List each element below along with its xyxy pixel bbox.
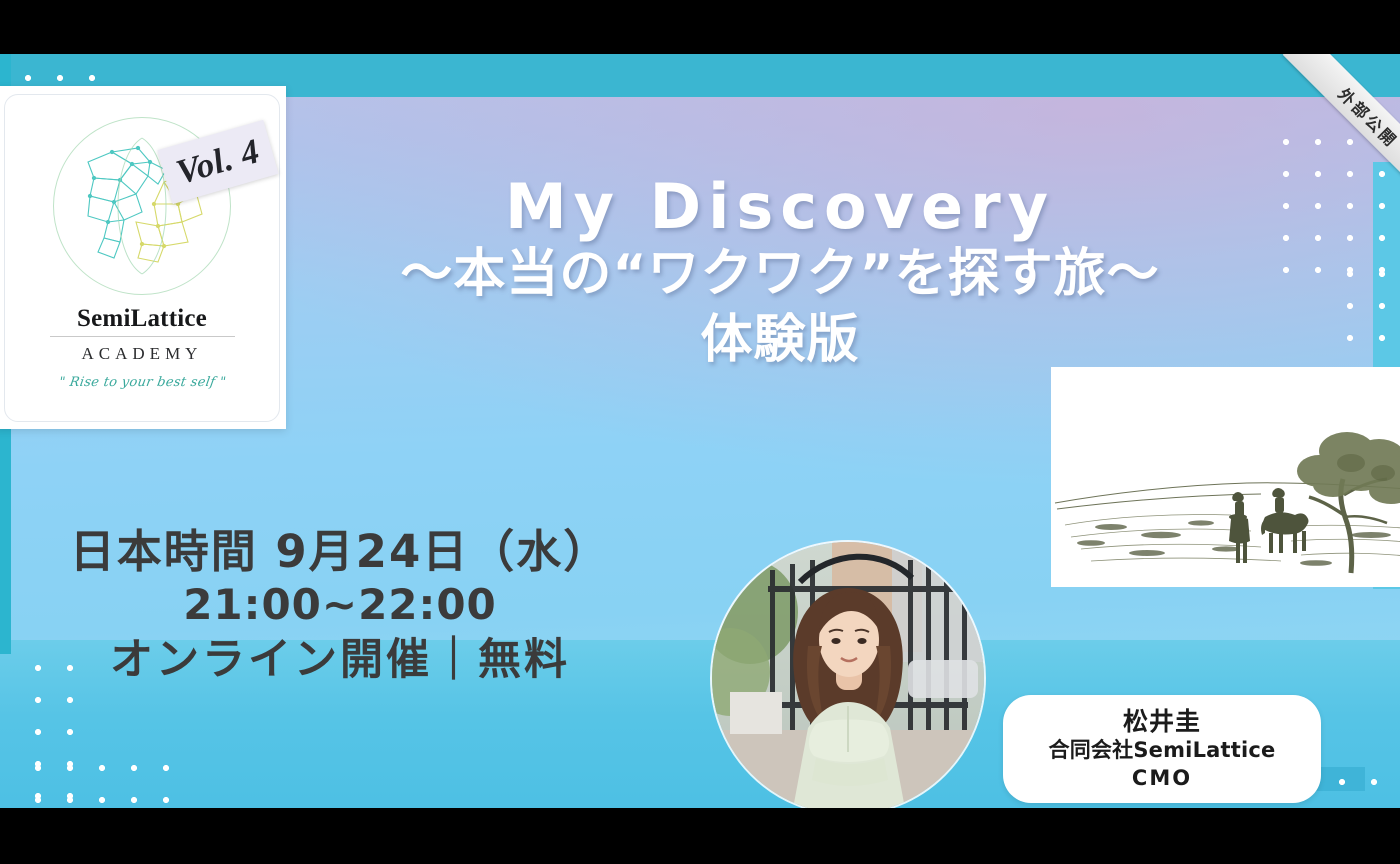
ribbon-band: 外部公開 (1283, 54, 1400, 182)
logo-tagline: " Rise to your best self " (57, 375, 226, 390)
headline-sub: 〜本当の“ワクワク”を探す旅〜 (300, 243, 1260, 306)
speaker-name: 松井圭 (1123, 706, 1201, 737)
corner-ribbon: 外部公開 (1272, 54, 1400, 182)
letterbox-bar-top (0, 0, 1400, 54)
poster-canvas: 外部公開 (0, 54, 1400, 808)
logo-divider (50, 336, 235, 337)
speaker-badge: 松井圭 合同会社SemiLattice CMO (1003, 695, 1321, 803)
logo-brand-name: SemiLattice (77, 305, 207, 333)
headline-sub2: 体験版 (300, 309, 1260, 372)
speaker-portrait (710, 540, 986, 808)
poster-stage: 外部公開 (0, 0, 1400, 864)
dot-pattern-bottom-left-wide (14, 744, 189, 808)
event-date: 日本時間 9月24日（水） (40, 526, 640, 578)
ribbon-label: 外部公開 (1334, 82, 1400, 153)
speaker-company: 合同会社SemiLattice (1049, 737, 1276, 764)
headline-block: My Discovery 〜本当の“ワクワク”を探す旅〜 体験版 (300, 172, 1260, 372)
event-time: 21:00~22:00 (40, 578, 640, 633)
logo-brand-sub: ACADEMY (82, 344, 203, 364)
letterbox-bar-bottom (0, 808, 1400, 864)
headline-main: My Discovery (300, 172, 1260, 241)
speaker-role: CMO (1132, 765, 1192, 792)
dot-pattern-right (1326, 250, 1400, 360)
event-format: オンライン開催｜無料 (40, 633, 640, 688)
event-info: 日本時間 9月24日（水） 21:00~22:00 オンライン開催｜無料 (40, 526, 640, 688)
horseback-riders-landscape-sketch (1051, 367, 1400, 587)
